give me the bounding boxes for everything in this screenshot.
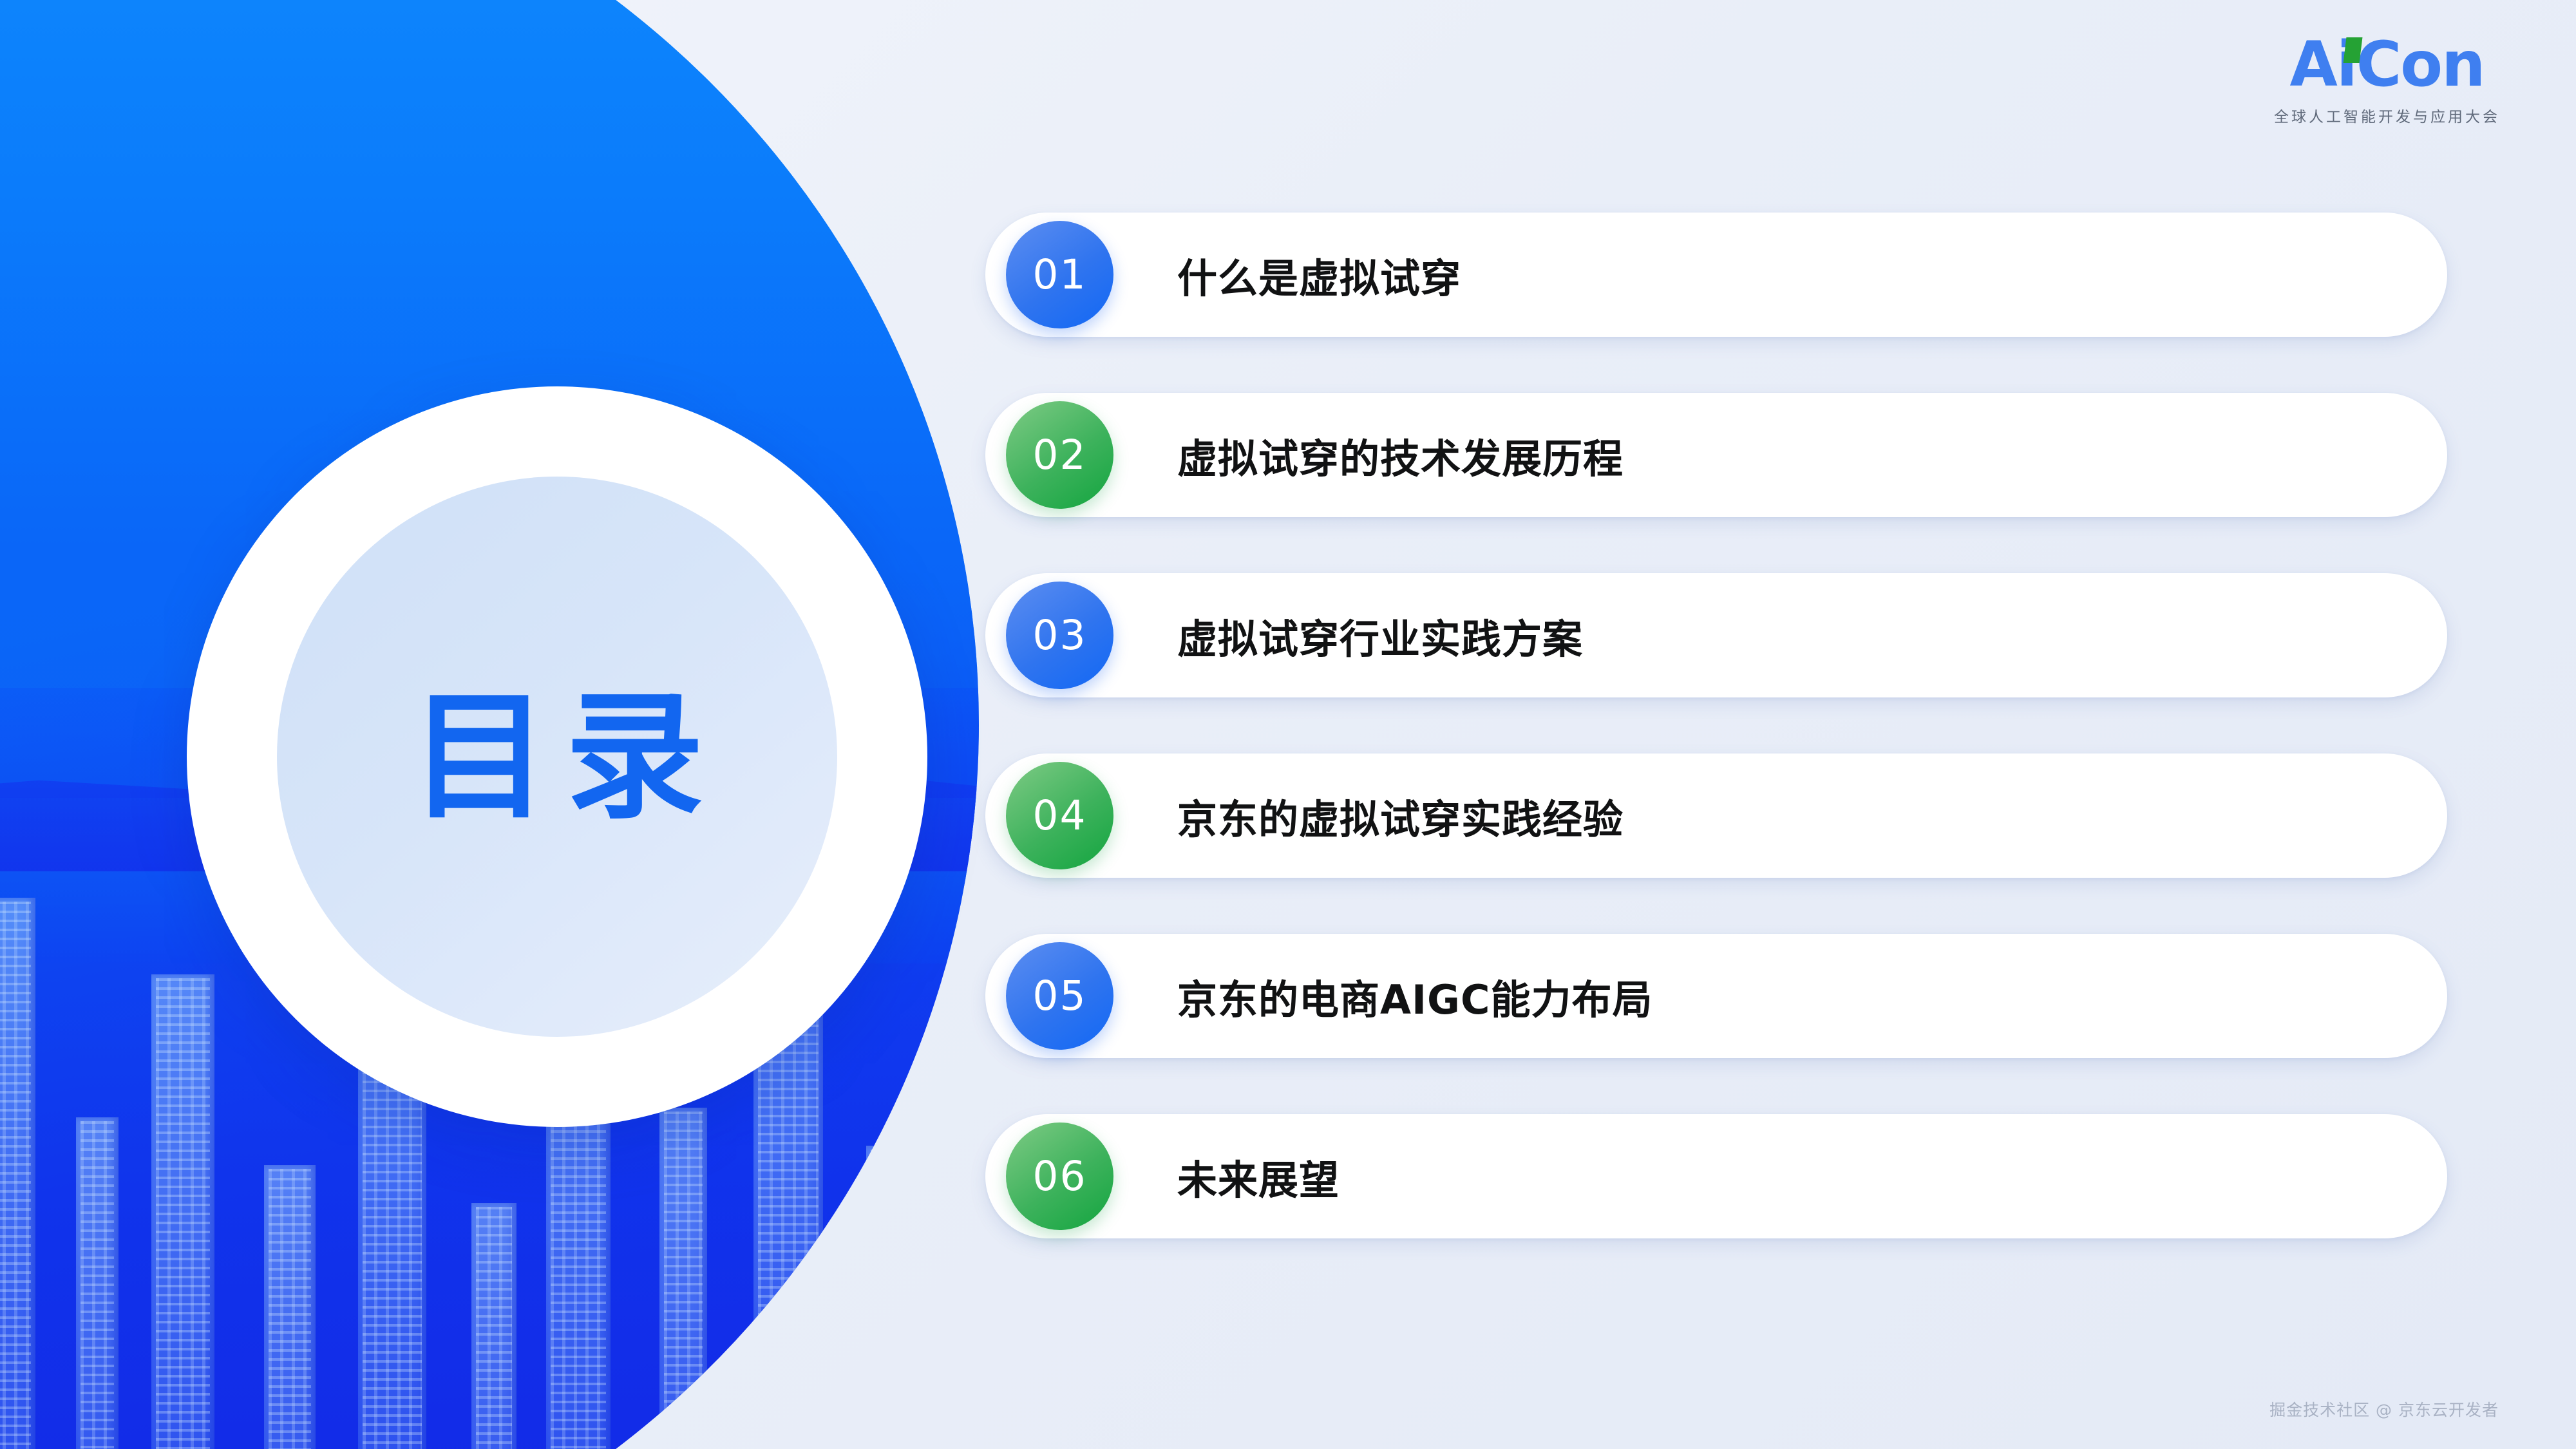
toc-item-04[interactable]: 04 京东的虚拟试穿实践经验 <box>985 753 2447 878</box>
toc-circle-ring: 目录 <box>187 386 927 1127</box>
toc-number-badge: 04 <box>1006 762 1113 869</box>
toc-item-06[interactable]: 06 未来展望 <box>985 1114 2447 1238</box>
toc-item-02[interactable]: 02 虚拟试穿的技术发展历程 <box>985 393 2447 517</box>
aicon-logo: AiCon 全球人工智能开发与应用大会 <box>2274 33 2500 126</box>
toc-item-01[interactable]: 01 什么是虚拟试穿 <box>985 213 2447 337</box>
tree-canopy <box>0 1394 979 1449</box>
toc-item-03[interactable]: 03 虚拟试穿行业实践方案 <box>985 573 2447 697</box>
logo-subtitle: 全球人工智能开发与应用大会 <box>2274 104 2500 126</box>
toc-item-label: 京东的虚拟试穿实践经验 <box>1177 787 1624 845</box>
logo-wordmark: AiCon <box>2290 33 2485 95</box>
slide-canvas: 目录 AiCon 全球人工智能开发与应用大会 01 什么是虚拟试穿 02 虚拟试… <box>0 0 2576 1449</box>
toc-item-label: 京东的电商AIGC能力布局 <box>1177 967 1653 1025</box>
logo-accent-icon <box>2344 37 2363 63</box>
toc-item-label: 什么是虚拟试穿 <box>1177 246 1461 304</box>
toc-item-05[interactable]: 05 京东的电商AIGC能力布局 <box>985 934 2447 1058</box>
toc-item-label: 虚拟试穿行业实践方案 <box>1177 607 1583 665</box>
toc-item-label: 未来展望 <box>1177 1148 1340 1206</box>
page-title: 目录 <box>393 688 721 826</box>
toc-number-badge: 01 <box>1006 221 1113 328</box>
toc-circle-inner: 目录 <box>277 477 837 1037</box>
watermark-text: 掘金技术社区 @ 京东云开发者 <box>2269 1397 2499 1421</box>
toc-list: 01 什么是虚拟试穿 02 虚拟试穿的技术发展历程 03 虚拟试穿行业实践方案 … <box>985 213 2447 1294</box>
toc-number-badge: 06 <box>1006 1122 1113 1230</box>
toc-number-badge: 03 <box>1006 582 1113 689</box>
toc-item-label: 虚拟试穿的技术发展历程 <box>1177 426 1624 484</box>
toc-number-badge: 05 <box>1006 942 1113 1050</box>
toc-number-badge: 02 <box>1006 401 1113 509</box>
